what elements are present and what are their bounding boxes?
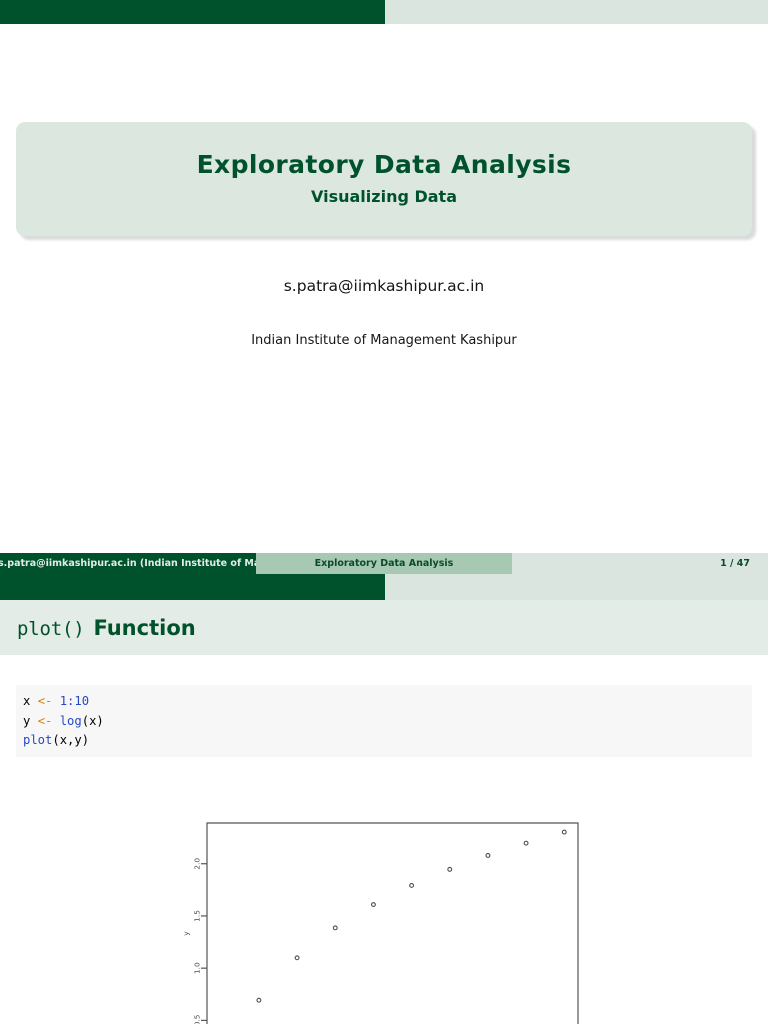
code-var-y: y	[23, 714, 30, 728]
y-axis-tick-label: 2.0	[193, 858, 202, 870]
scatter-plot-svg: 0.51.01.52.0y	[178, 814, 590, 1024]
footer-title-segment: Exploratory Data Analysis	[256, 553, 512, 574]
code-var-x: x	[23, 694, 30, 708]
title-box: Exploratory Data Analysis Visualizing Da…	[16, 122, 752, 236]
code-assign-1: <-	[38, 694, 53, 708]
frame-title-code: plot()	[17, 618, 84, 640]
footer-page-number: 1 / 47	[720, 558, 750, 569]
scatter-point	[333, 926, 337, 930]
page-subtitle: Visualizing Data	[311, 189, 457, 206]
code-assign-2: <-	[38, 714, 53, 728]
scatter-point	[372, 903, 376, 907]
y-axis-tick-label: 1.5	[193, 910, 202, 922]
footer-author-segment: s.patra@iimkashipur.ac.in (Indian Instit…	[0, 553, 256, 574]
y-axis-tick-label: 1.0	[193, 962, 202, 974]
scatter-point	[257, 998, 261, 1002]
code-args-log: (x)	[82, 714, 104, 728]
slide2-header-bar	[0, 576, 768, 600]
header-bar-dark-segment	[0, 0, 385, 24]
institute-name: Indian Institute of Management Kashipur	[0, 333, 768, 348]
scatter-point	[486, 854, 490, 858]
code-fn-log: log	[60, 714, 82, 728]
scatter-point	[410, 884, 414, 888]
y-axis-label: y	[182, 931, 191, 936]
r-scatter-plot: 0.51.01.52.0y	[178, 814, 590, 1024]
slide-title-page: Exploratory Data Analysis Visualizing Da…	[0, 0, 768, 576]
slide-plot-function: plot() Function x <- 1:10 y <- log(x) pl…	[0, 576, 768, 1024]
slide-footer: s.patra@iimkashipur.ac.in (Indian Instit…	[0, 553, 768, 574]
footer-title-text: Exploratory Data Analysis	[315, 558, 454, 569]
page-title: Exploratory Data Analysis	[197, 152, 572, 178]
scatter-point	[295, 956, 299, 960]
r-code-block: x <- 1:10 y <- log(x) plot(x,y)	[16, 685, 752, 757]
frame-title-bar: plot() Function	[0, 600, 768, 655]
author-email: s.patra@iimkashipur.ac.in	[0, 277, 768, 295]
frame-title-text: Function	[93, 616, 195, 640]
y-axis-tick-label: 0.5	[193, 1014, 202, 1024]
scatter-point	[448, 867, 452, 871]
footer-author-text: s.patra@iimkashipur.ac.in (Indian Instit…	[0, 558, 256, 569]
slide-header-bar	[0, 0, 768, 24]
code-value-range: 1:10	[60, 694, 89, 708]
scatter-point	[562, 830, 566, 834]
scatter-point	[524, 841, 528, 845]
code-fn-plot: plot	[23, 733, 52, 747]
slide2-header-bar-dark-segment	[0, 576, 385, 600]
footer-page-segment: 1 / 47	[512, 553, 768, 574]
code-args-plot: (x,y)	[52, 733, 89, 747]
